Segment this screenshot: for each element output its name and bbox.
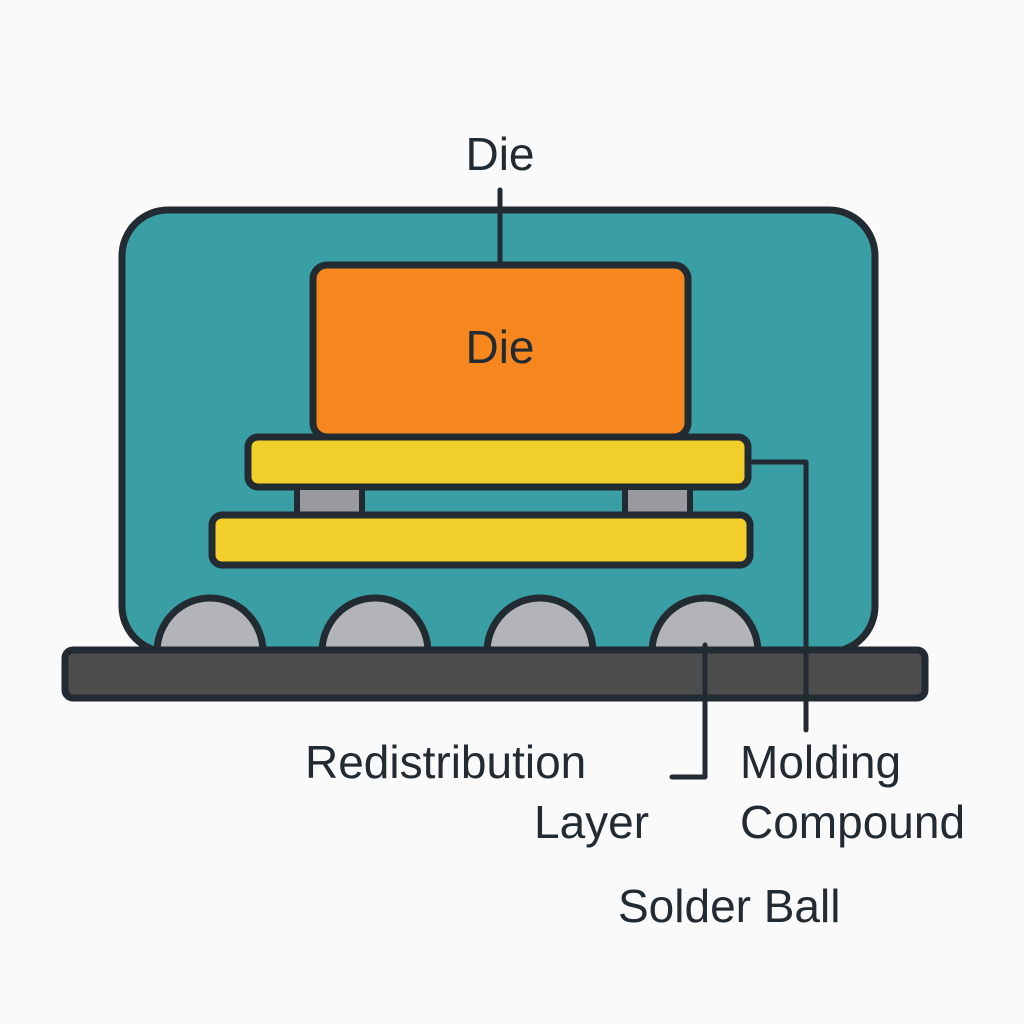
substrate-board[interactable] — [65, 650, 925, 698]
rdl-lower-layer[interactable] — [212, 515, 750, 565]
molding-label-line2: Compound — [740, 796, 965, 848]
molding-label-line1: Molding — [740, 736, 901, 788]
rdl-upper-layer[interactable] — [248, 437, 748, 487]
copper-pillar-1[interactable] — [297, 487, 362, 515]
solder-ball-label: Solder Ball — [618, 880, 840, 932]
die-inner-label: Die — [465, 321, 534, 373]
redistribution-label-line1: Redistribution — [305, 736, 586, 788]
package-cross-section-diagram: Die Die Redistribution Layer Molding Com… — [0, 0, 1024, 1024]
copper-pillar-2[interactable] — [625, 487, 690, 515]
die-callout-label: Die — [465, 128, 534, 180]
redistribution-label-line2: Layer — [534, 796, 649, 848]
diagram-canvas: Die Die Redistribution Layer Molding Com… — [0, 0, 1024, 1024]
